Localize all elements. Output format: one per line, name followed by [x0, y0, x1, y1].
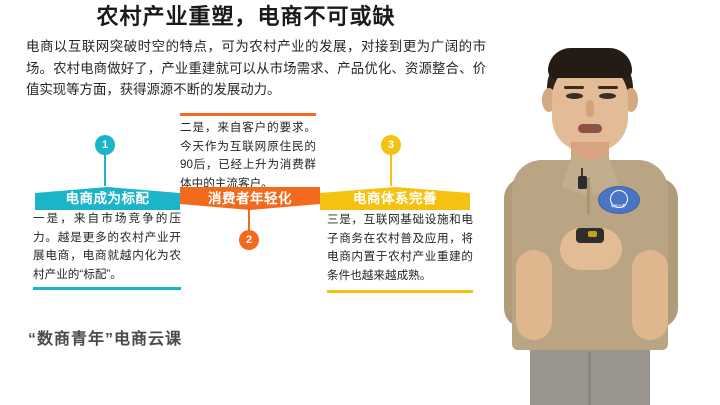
- presenter-placket: [587, 178, 590, 214]
- presenter-mouth: [578, 124, 602, 133]
- presenter-eyebrow-left: [564, 86, 584, 89]
- column-rule-2: [180, 113, 316, 116]
- presenter-forearm-right: [632, 250, 668, 340]
- presenter-eyebrow-right: [598, 86, 618, 89]
- banner-label-3: 电商体系完善: [320, 187, 470, 210]
- connector-stem-2: [248, 205, 250, 233]
- step-number-1: 1: [95, 135, 115, 155]
- column-body-2: 二是，来自客户的要求。今天作为互联网原住民的90后，已经上升为消费群体中的主流客…: [180, 119, 316, 193]
- connector-stem-3: [390, 152, 392, 186]
- presenter-nose: [586, 100, 594, 117]
- column-rule-1: [33, 287, 181, 290]
- column-rule-3: [327, 290, 473, 293]
- presenter-eye-left: [566, 93, 583, 99]
- step-number-3: 3: [381, 135, 401, 155]
- slide-canvas: 农村产业重塑，电商不可或缺 电商以互联网突破时空的特点，可为农村产业的发展，对接…: [0, 0, 720, 405]
- presenter-forearm-left: [516, 250, 552, 340]
- column-body-3: 三是，互联网基础设施和电子商务在农村普及应用，将电商内置于农村产业重建的条件也越…: [327, 211, 473, 285]
- lapel-microphone-icon: [578, 176, 587, 189]
- presenter-trouser-seam: [588, 352, 591, 405]
- presenter-fringe: [548, 48, 632, 78]
- lead-paragraph: 电商以互联网突破时空的特点，可为农村产业的发展，对接到更为广阔的市场。农村电商做…: [26, 36, 486, 101]
- clicker-button-icon: [588, 231, 597, 237]
- presenter-video: 电商云课: [492, 0, 720, 405]
- column-body-1: 一是，来自市场竞争的压力。越是更多的农村产业开展电商，电商就越内化为农村产业的“…: [33, 210, 181, 284]
- banner-label-1: 电商成为标配: [35, 187, 180, 210]
- page-title: 农村产业重塑，电商不可或缺: [0, 3, 492, 31]
- step-number-2: 2: [239, 230, 259, 250]
- connector-stem-1: [104, 152, 106, 186]
- banner-label-2: 消费者年轻化: [180, 187, 320, 210]
- presenter-eye-right: [599, 93, 616, 99]
- course-caption: “数商青年”电商云课: [28, 325, 182, 349]
- shirt-badge-text: 电商云课: [600, 203, 636, 208]
